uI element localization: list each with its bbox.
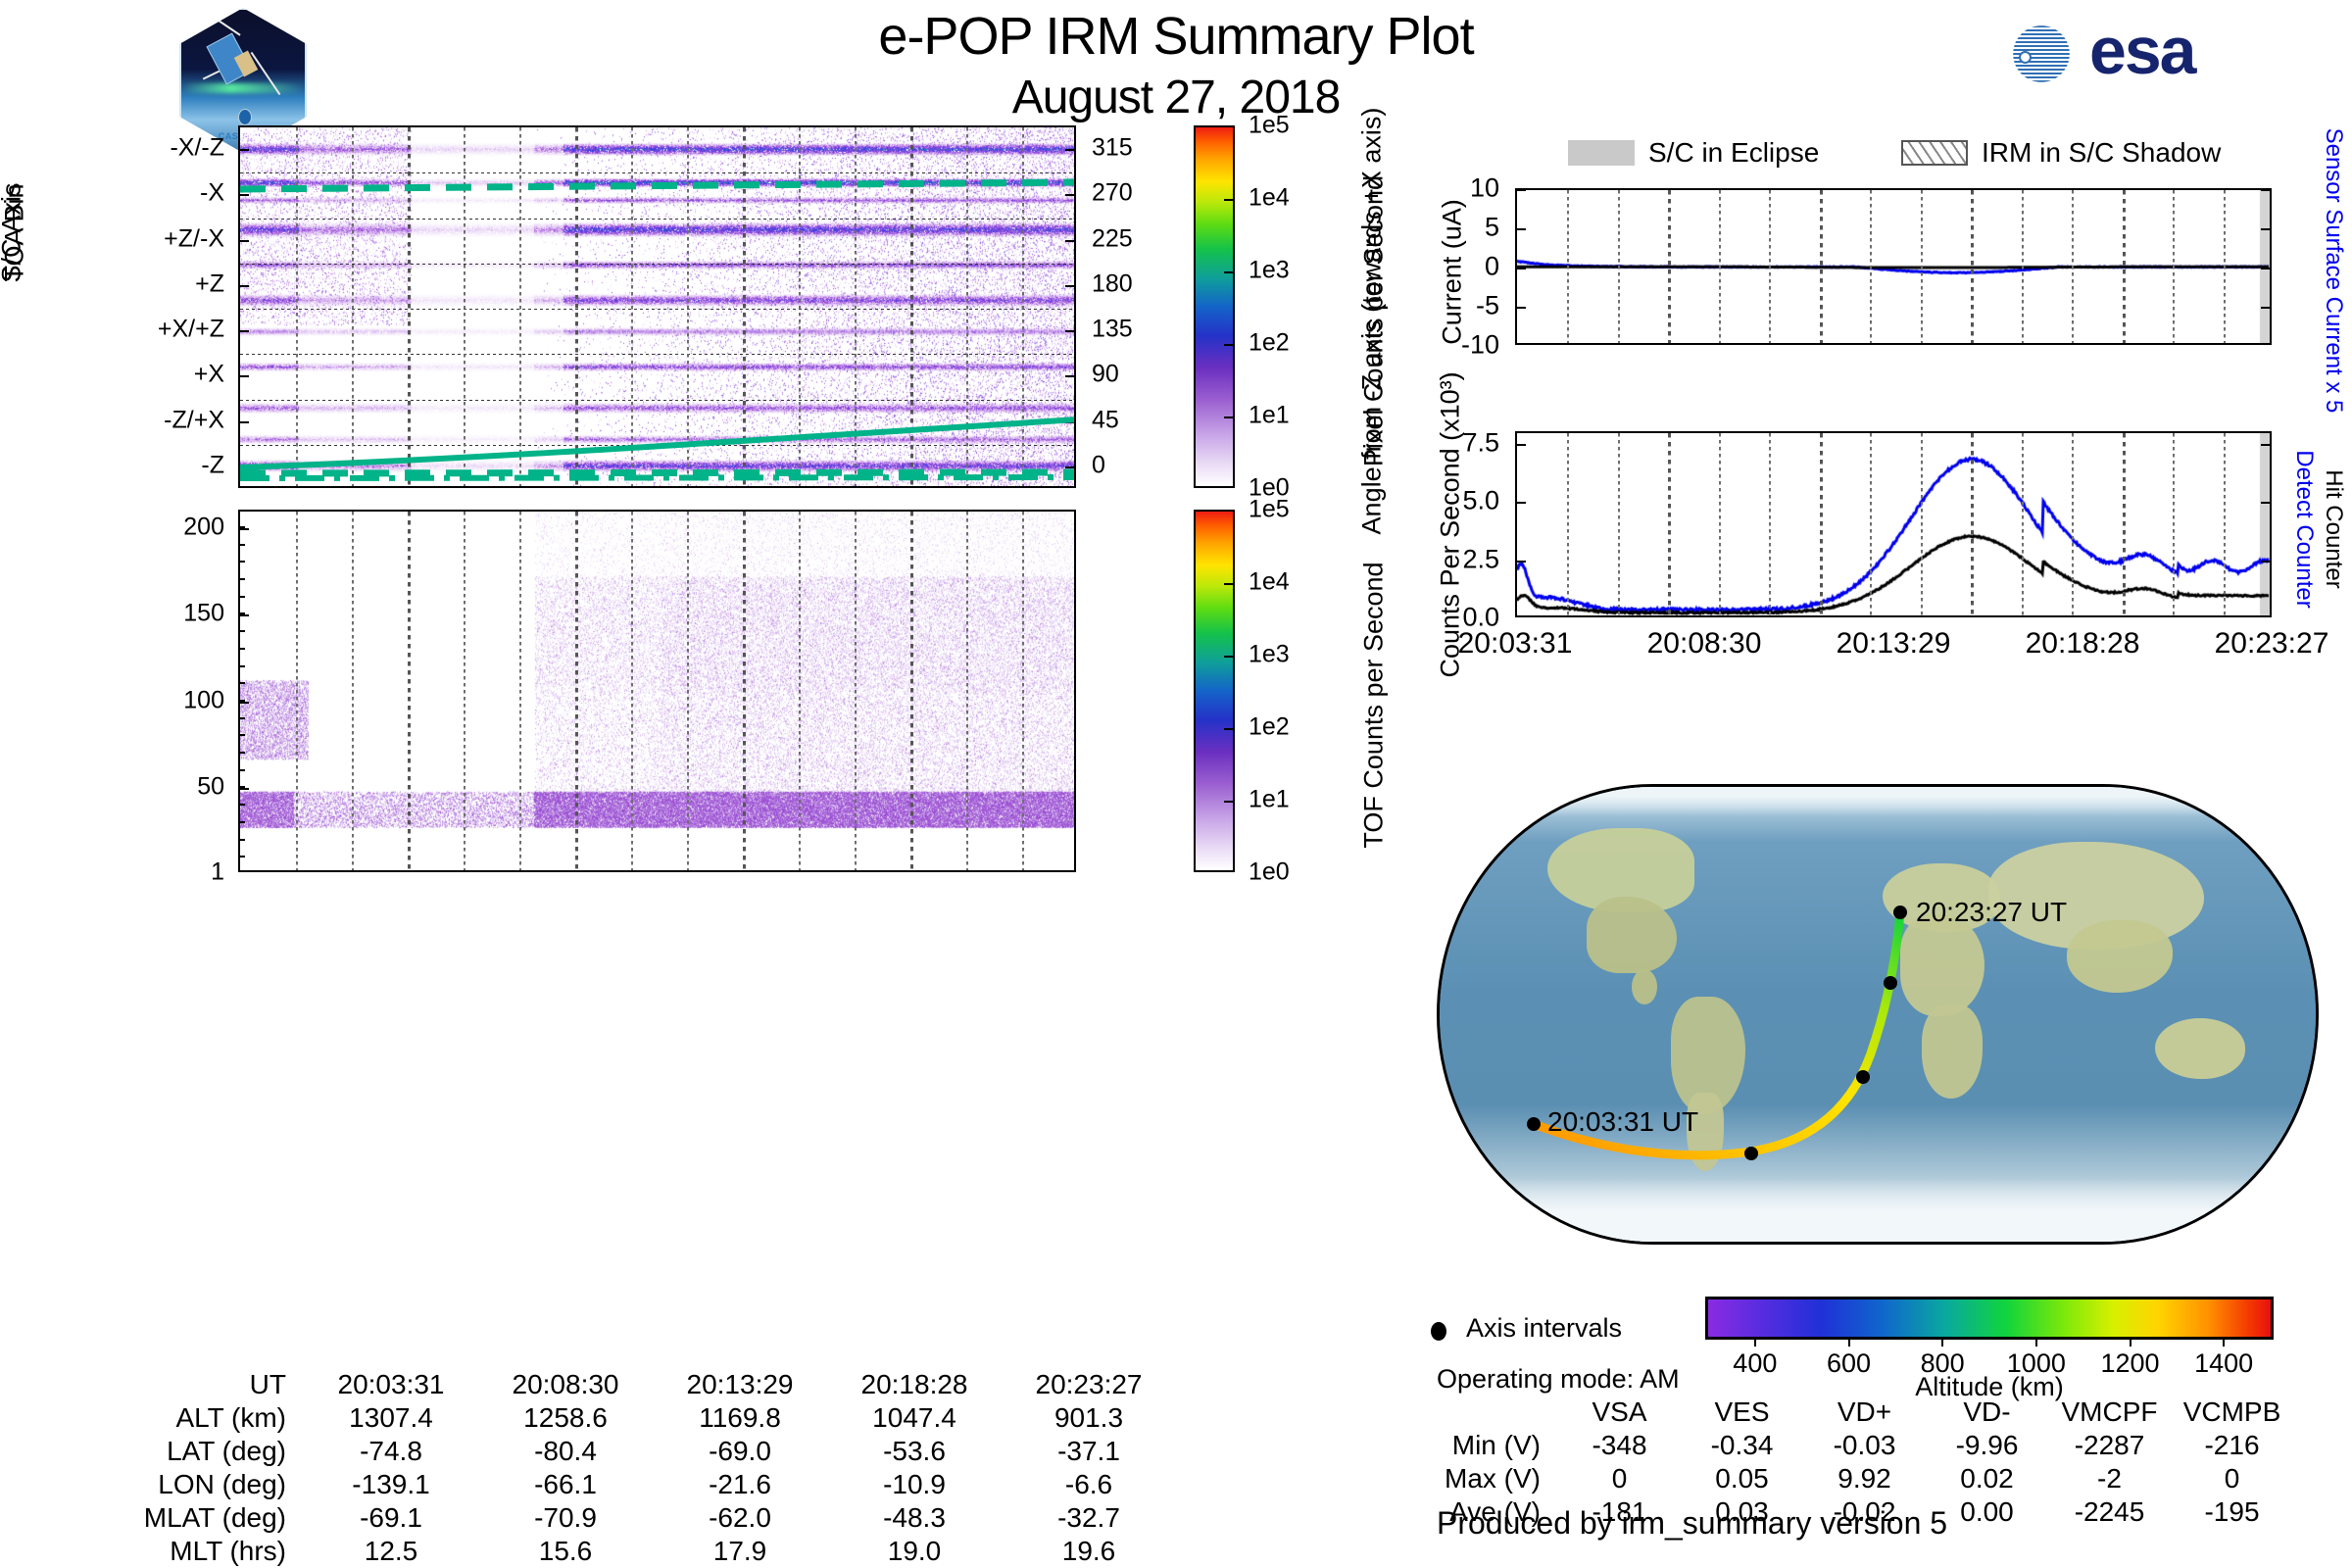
ephemeris-cell: 20:18:28 — [827, 1368, 1002, 1401]
axis-intervals-label: Axis intervals — [1466, 1313, 1622, 1344]
minor-tick — [240, 544, 245, 546]
gridline — [2072, 433, 2074, 615]
gridline — [1668, 433, 1671, 615]
gray-swatch-icon — [1568, 140, 1635, 166]
voltage-cell: -0.03 — [1803, 1429, 1926, 1462]
tick — [1517, 307, 1526, 309]
ephemeris-row-label: ALT (km) — [39, 1401, 304, 1435]
tick — [1517, 561, 1526, 563]
ephemeris-cell: 20:23:27 — [1002, 1368, 1176, 1401]
gridline — [799, 512, 801, 870]
tick — [1517, 502, 1526, 504]
gridline — [2224, 433, 2226, 615]
gridline — [1870, 190, 1872, 343]
voltage-cell: -195 — [2171, 1495, 2293, 1529]
gridline — [1567, 190, 1569, 343]
tick — [1224, 656, 1233, 658]
colorbar-tick: 1e2 — [1249, 713, 1290, 742]
gridline — [2022, 190, 2024, 343]
page-title: e-POP IRM Summary Plot — [686, 6, 1666, 67]
ephemeris-cell: -6.6 — [1002, 1468, 1176, 1501]
gridline — [2123, 433, 2126, 615]
spectrogram-y-tick: +X/+Z — [158, 316, 224, 344]
counts-canvas — [1517, 433, 2270, 615]
gridline — [408, 512, 411, 870]
y-tick: 7.5 — [1462, 427, 1499, 458]
pixel-counts-colorbar — [1194, 125, 1235, 488]
minor-tick — [240, 700, 245, 702]
ephemeris-row: LAT (deg)-74.8-80.4-69.0-53.6-37.1 — [39, 1435, 1176, 1468]
minor-tick — [240, 612, 245, 614]
tick — [240, 702, 249, 704]
y-tick: 0 — [1485, 252, 1499, 282]
spectrogram-right-y-tick: 315 — [1092, 134, 1133, 163]
gridline — [1971, 190, 1974, 343]
legend-item-irm-shadow: IRM in S/C Shadow — [1901, 137, 2221, 169]
ephemeris-row: ALT (km)1307.41258.61169.81047.4901.3 — [39, 1401, 1176, 1435]
tick — [1224, 583, 1233, 585]
ephemeris-row-label: LON (deg) — [39, 1468, 304, 1501]
tof-counts-colorbar-label: TOF Counts per Second — [1359, 480, 1390, 931]
legend-label-sc-eclipse: S/C in Eclipse — [1648, 137, 1819, 169]
spectrogram-right-y-tick: 225 — [1092, 224, 1133, 253]
gridline — [352, 512, 354, 870]
toa-y-axis-label: TOA Bin — [0, 140, 30, 326]
colorbar-tick: 1e5 — [1249, 112, 1290, 140]
ephemeris-row: MLAT (deg)-69.1-70.9-62.0-48.3-32.7 — [39, 1501, 1176, 1535]
spectrogram-right-y-tick: 180 — [1092, 269, 1133, 298]
ephemeris-cell: 17.9 — [653, 1535, 827, 1568]
minor-tick — [240, 752, 245, 754]
gridline — [743, 512, 746, 870]
colorbar-tick: 1e3 — [1249, 641, 1290, 669]
tick — [1517, 228, 1526, 230]
ephemeris-row: MLT (hrs)12.515.617.919.019.6 — [39, 1535, 1176, 1568]
legend-label-irm-shadow: IRM in S/C Shadow — [1982, 137, 2221, 169]
tick — [1517, 268, 1526, 269]
tick — [240, 528, 249, 530]
gridline — [910, 512, 913, 870]
orbit-track — [1440, 787, 2319, 1245]
ephemeris-row: UT20:03:3120:08:3020:13:2920:18:2820:23:… — [39, 1368, 1176, 1401]
voltage-cell: -9.96 — [1926, 1429, 2048, 1462]
voltage-cell: -348 — [1558, 1429, 1681, 1462]
voltage-row-label: Max (V) — [1411, 1462, 1558, 1495]
ephemeris-cell: 20:08:30 — [478, 1368, 653, 1401]
tick — [1224, 416, 1233, 418]
gridline — [1769, 190, 1771, 343]
spectrogram-y-tick: -Z — [201, 451, 224, 479]
esa-emblem-inner-icon — [2033, 33, 2074, 74]
y-tick: 2.5 — [1462, 544, 1499, 574]
y-tick: -5 — [1476, 291, 1499, 321]
counts-x-tick: 20:18:28 — [2026, 627, 2140, 661]
gridline — [687, 512, 689, 870]
toa-bin-spectrogram[interactable] — [238, 510, 1076, 872]
tick — [240, 614, 249, 616]
gridline — [966, 512, 968, 870]
voltage-row: Min (V)-348-0.34-0.03-9.96-2287-216 — [1411, 1429, 2293, 1462]
tick — [2261, 307, 2270, 309]
minor-tick — [240, 734, 245, 736]
gridline — [631, 512, 633, 870]
gridline — [1719, 190, 1721, 343]
ephemeris-cell: -37.1 — [1002, 1435, 1176, 1468]
counts-right-label-blue: Detect Counter — [2290, 407, 2318, 652]
ground-track-map[interactable]: 20:03:31 UT 20:23:27 UT — [1437, 784, 2319, 1245]
voltage-cell: 0.02 — [1926, 1462, 2048, 1495]
minor-tick — [240, 665, 245, 667]
gridline — [1022, 512, 1024, 870]
hatched-swatch-icon — [1901, 140, 1968, 166]
voltage-cell: -2287 — [2048, 1429, 2171, 1462]
ephemeris-cell: -10.9 — [827, 1468, 1002, 1501]
minor-tick — [240, 804, 245, 806]
voltage-column-header: VCMPB — [2171, 1396, 2293, 1429]
tick — [2261, 502, 2270, 504]
voltage-corner — [1411, 1396, 1558, 1429]
voltage-column-header: VSA — [1558, 1396, 1681, 1429]
toa-y-tick: 50 — [197, 773, 224, 802]
voltage-column-header: VES — [1681, 1396, 1803, 1429]
toa-y-tick: 100 — [183, 686, 224, 714]
colorbar-tick: 1e0 — [1249, 858, 1290, 887]
tick — [2261, 444, 2270, 446]
track-point-3 — [1856, 1070, 1870, 1084]
current-timeseries-panel[interactable] — [1515, 188, 2272, 345]
voltage-column-header: VD+ — [1803, 1396, 1926, 1429]
gridline — [1820, 433, 1823, 615]
minor-tick — [240, 526, 245, 528]
ephemeris-cell: -66.1 — [478, 1468, 653, 1501]
pixel-counts-colorbar-label: Pixel Counts per Second — [1359, 96, 1390, 547]
voltage-column-header: VD- — [1926, 1396, 2048, 1429]
tick — [1224, 801, 1233, 803]
gridline — [1870, 433, 1872, 615]
voltage-row: Max (V)00.059.920.02-20 — [1411, 1462, 2293, 1495]
ephemeris-cell: -139.1 — [304, 1468, 478, 1501]
minor-tick — [240, 769, 245, 771]
tick — [1224, 344, 1233, 346]
voltage-column-header: VMCPF — [2048, 1396, 2171, 1429]
y-tick: -10 — [1461, 330, 1499, 361]
tick — [240, 788, 249, 790]
ephemeris-cell: -80.4 — [478, 1435, 653, 1468]
voltage-cell: -216 — [2171, 1429, 2293, 1462]
spectrogram-right-y-tick: 135 — [1092, 316, 1133, 344]
colorbar-tick: 1e3 — [1249, 257, 1290, 285]
tick — [1224, 199, 1233, 201]
spectrogram-right-y-tick: 0 — [1092, 451, 1105, 479]
esa-wordmark: esa — [2089, 16, 2194, 86]
ephemeris-cell: 19.6 — [1002, 1535, 1176, 1568]
ephemeris-cell: -69.1 — [304, 1501, 478, 1535]
toa-y-tick: 200 — [183, 513, 224, 541]
y-tick: 5.0 — [1462, 486, 1499, 516]
gridline — [1668, 190, 1671, 343]
gridline — [296, 512, 298, 870]
tick — [2261, 561, 2270, 563]
voltage-cell: 0.05 — [1681, 1462, 1803, 1495]
voltage-cell: 9.92 — [1803, 1462, 1926, 1495]
minor-tick — [240, 630, 245, 632]
ephemeris-cell: -70.9 — [478, 1501, 653, 1535]
gridline — [1567, 433, 1569, 615]
tick — [2261, 228, 2270, 230]
tick — [1517, 189, 1526, 191]
colorbar-tick: 1e4 — [1249, 568, 1290, 597]
gridline — [2123, 190, 2126, 343]
current-right-label-blue: Sensor Surface Current x 5 — [2320, 109, 2347, 432]
colorbar-tick: 1e2 — [1249, 329, 1290, 358]
track-point-end — [1893, 906, 1907, 919]
esa-dot-icon — [2021, 53, 2030, 62]
voltage-cell: -2245 — [2048, 1495, 2171, 1529]
colorbar-tick: 1e4 — [1249, 184, 1290, 213]
ephemeris-cell: -32.7 — [1002, 1501, 1176, 1535]
gridline — [1769, 433, 1771, 615]
track-start-label: 20:03:31 UT — [1547, 1106, 1698, 1138]
y-tick: 5 — [1485, 213, 1499, 243]
operating-mode-label: Operating mode: AM — [1437, 1364, 1680, 1395]
tof-counts-colorbar — [1194, 510, 1235, 872]
ephemeris-cell: 1258.6 — [478, 1401, 653, 1435]
colorbar-tick: 1e5 — [1249, 496, 1290, 524]
gridline — [2173, 190, 2175, 343]
tick — [1517, 444, 1526, 446]
track-point-4 — [1884, 976, 1897, 990]
tick — [1224, 728, 1233, 730]
sc-axis-spectrogram[interactable] — [238, 125, 1076, 488]
counts-x-tick: 20:08:30 — [1647, 627, 1762, 661]
gridline — [2072, 190, 2074, 343]
voltage-cell: -2 — [2048, 1462, 2171, 1495]
tick — [2261, 268, 2270, 269]
ephemeris-cell: -62.0 — [653, 1501, 827, 1535]
colorbar-tick: 1e1 — [1249, 786, 1290, 814]
ephemeris-cell: -74.8 — [304, 1435, 478, 1468]
gridline — [1921, 190, 1923, 343]
gridline — [1618, 433, 1620, 615]
gridline — [519, 512, 521, 870]
minor-tick — [240, 717, 245, 719]
tick — [1224, 271, 1233, 273]
counts-x-tick: 20:03:31 — [1458, 627, 1573, 661]
minor-tick — [240, 786, 245, 788]
track-point-start — [1527, 1117, 1541, 1131]
tick — [2261, 189, 2270, 191]
colorbar-tick: 1e1 — [1249, 402, 1290, 430]
spectrogram-overlay-traces — [240, 127, 1076, 488]
ephemeris-table: UT20:03:3120:08:3020:13:2920:18:2820:23:… — [39, 1368, 1176, 1568]
spectrogram-y-tick: +Z — [195, 269, 224, 298]
toa-y-tick: 1 — [211, 858, 224, 887]
legend-item-sc-eclipse: S/C in Eclipse — [1568, 137, 1819, 169]
spectrogram-y-tick: +Z/-X — [164, 224, 224, 253]
spectrogram-right-y-tick: 270 — [1092, 179, 1133, 208]
counts-timeseries-panel[interactable] — [1515, 431, 2272, 617]
counts-x-tick: 20:13:29 — [1837, 627, 1951, 661]
gridline — [2022, 433, 2024, 615]
page-subtitle: August 27, 2018 — [686, 71, 1666, 124]
ephemeris-cell: 1307.4 — [304, 1401, 478, 1435]
track-end-label: 20:23:27 UT — [1916, 897, 2067, 928]
axis-intervals-dot-icon — [1431, 1322, 1446, 1341]
gridline — [575, 512, 578, 870]
minor-tick — [240, 682, 245, 684]
ephemeris-cell: 19.0 — [827, 1535, 1002, 1568]
voltage-header-row: VSAVESVD+VD-VMCPFVCMPB — [1411, 1396, 2293, 1429]
gridline — [1618, 190, 1620, 343]
voltage-cell: 0 — [2171, 1462, 2293, 1495]
gridline — [1971, 433, 1974, 615]
spectrogram-right-y-tick: 90 — [1092, 361, 1119, 389]
spectrogram-y-tick: +X — [194, 361, 224, 389]
ephemeris-row-label: LAT (deg) — [39, 1435, 304, 1468]
gridline — [1820, 190, 1823, 343]
ephemeris-cell: -21.6 — [653, 1468, 827, 1501]
ephemeris-cell: 15.6 — [478, 1535, 653, 1568]
ephemeris-cell: 1047.4 — [827, 1401, 1002, 1435]
gridline — [2224, 190, 2226, 343]
y-tick: 10 — [1470, 173, 1499, 204]
ephemeris-cell: 1169.8 — [653, 1401, 827, 1435]
ephemeris-row-label: UT — [39, 1368, 304, 1401]
voltage-cell: -0.34 — [1681, 1429, 1803, 1462]
counts-right-label-black: Hit Counter — [2320, 407, 2347, 652]
gridline — [2173, 433, 2175, 615]
minor-tick — [240, 578, 245, 580]
minor-tick — [240, 856, 245, 857]
voltage-row-label: Min (V) — [1411, 1429, 1558, 1462]
minor-tick — [240, 561, 245, 563]
spectrogram-y-tick: -Z/+X — [164, 406, 224, 434]
ephemeris-cell: -48.3 — [827, 1501, 1002, 1535]
spectrogram-right-y-tick: 45 — [1092, 406, 1119, 434]
esa-logo: esa — [1999, 10, 2274, 98]
ephemeris-cell: -53.6 — [827, 1435, 1002, 1468]
minor-tick — [240, 821, 245, 823]
spectrogram-y-tick: -X/-Z — [170, 134, 224, 163]
ephemeris-cell: 20:03:31 — [304, 1368, 478, 1401]
gridline — [464, 512, 465, 870]
voltage-cell: 0 — [1558, 1462, 1681, 1495]
ephemeris-cell: 901.3 — [1002, 1401, 1176, 1435]
current-canvas — [1517, 190, 2270, 343]
gridline — [855, 512, 857, 870]
toa-canvas — [240, 512, 1074, 870]
toa-y-tick: 150 — [183, 600, 224, 628]
spectrogram-y-tick: -X — [200, 179, 224, 208]
ephemeris-row-label: MLAT (deg) — [39, 1501, 304, 1535]
track-point-2 — [1744, 1147, 1758, 1160]
current-y-axis-label: Current (uA) — [1438, 145, 1468, 400]
ephemeris-cell: 20:13:29 — [653, 1368, 827, 1401]
altitude-colorbar: 400600800100012001400 — [1705, 1297, 2274, 1340]
ephemeris-cell: -69.0 — [653, 1435, 827, 1468]
gridline — [1719, 433, 1721, 615]
ephemeris-row: LON (deg)-139.1-66.1-21.6-10.9-6.6 — [39, 1468, 1176, 1501]
ephemeris-row-label: MLT (hrs) — [39, 1535, 304, 1568]
gridline — [1921, 433, 1923, 615]
produced-by-label: Produced by irm_summary version 5 — [1437, 1505, 1947, 1542]
minor-tick — [240, 596, 245, 598]
minor-tick — [240, 839, 245, 841]
ephemeris-cell: 12.5 — [304, 1535, 478, 1568]
minor-tick — [240, 648, 245, 650]
